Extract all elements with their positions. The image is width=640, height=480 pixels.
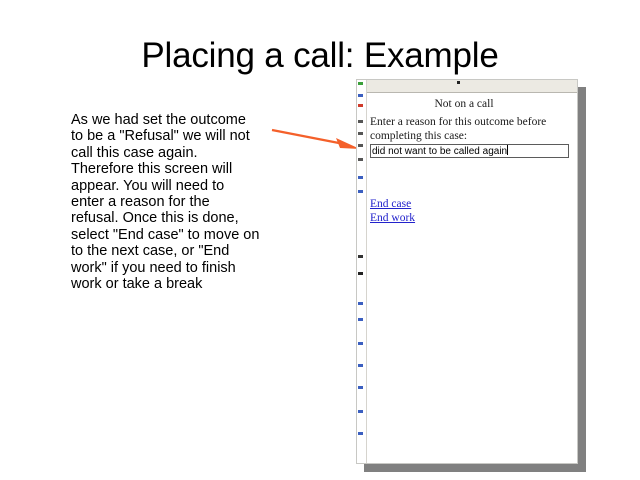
sliver-fragment-blue bbox=[358, 302, 363, 305]
sliver-fragment-blue bbox=[358, 94, 363, 97]
slide-title: Placing a call: Example bbox=[0, 36, 640, 76]
page-heading: Not on a call bbox=[367, 98, 577, 110]
panel-toolbar-strip bbox=[357, 80, 577, 93]
callout-arrow-icon bbox=[268, 120, 360, 156]
end-case-link[interactable]: End case bbox=[370, 197, 411, 211]
text-caret bbox=[507, 145, 508, 155]
sliver-fragment-blue bbox=[358, 432, 363, 435]
sliver-fragment-grey bbox=[358, 158, 363, 161]
embedded-screenshot: Not on a call Enter a reason for this ou… bbox=[356, 79, 578, 464]
sliver-fragment-green bbox=[358, 82, 363, 85]
sliver-fragment-blue bbox=[358, 176, 363, 179]
sliver-fragment-red bbox=[358, 104, 363, 107]
sliver-fragment-blue bbox=[358, 318, 363, 321]
end-work-link[interactable]: End work bbox=[370, 211, 415, 225]
sliver-fragment-blue bbox=[358, 410, 363, 413]
sliver-fragment-blue bbox=[358, 386, 363, 389]
call-outcome-page: Not on a call Enter a reason for this ou… bbox=[367, 93, 577, 463]
background-window-sliver bbox=[357, 80, 367, 463]
toolbar-tick-icon bbox=[457, 81, 460, 84]
sliver-fragment-blue bbox=[358, 342, 363, 345]
reason-input-value: did not want to be called again bbox=[372, 146, 507, 157]
sliver-fragment-grey bbox=[358, 255, 363, 258]
page-action-links: End case End work bbox=[370, 197, 415, 225]
sliver-fragment-grey bbox=[358, 144, 363, 147]
sliver-fragment-grey bbox=[358, 132, 363, 135]
sliver-fragment-grey bbox=[358, 272, 363, 275]
reason-instruction-label: Enter a reason for this outcome before c… bbox=[370, 115, 577, 143]
sliver-fragment-blue bbox=[358, 190, 363, 193]
reason-input[interactable]: did not want to be called again bbox=[370, 144, 569, 158]
sliver-fragment-blue bbox=[358, 364, 363, 367]
slide-body-text: As we had set the outcome to be a "Refus… bbox=[71, 112, 261, 292]
sliver-fragment-grey bbox=[358, 120, 363, 123]
